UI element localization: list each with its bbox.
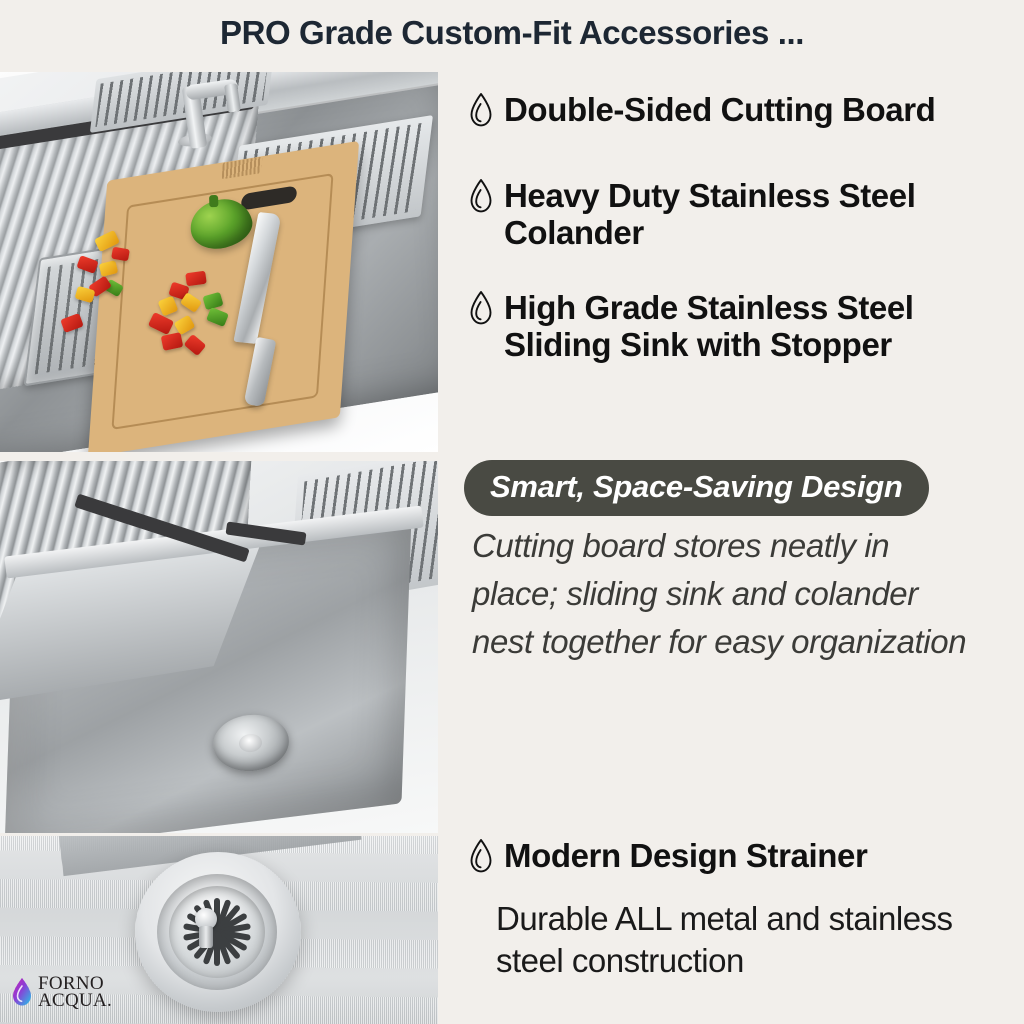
water-drop-icon	[468, 92, 494, 133]
feature-label: Modern Design Strainer	[504, 838, 867, 875]
workstation-sink-with-cutting-board-photo	[0, 72, 438, 452]
water-drop-icon	[468, 838, 494, 879]
water-drop-gradient-icon	[10, 977, 34, 1007]
strainer-description: Durable ALL metal and stainless steel co…	[496, 898, 1016, 982]
feature-label: Double-Sided Cutting Board	[504, 92, 935, 129]
status-badge: Smart, Space-Saving Design	[464, 460, 929, 516]
water-drop-icon	[468, 290, 494, 331]
infographic-page: PRO Grade Custom-Fit Accessories ...	[0, 0, 1024, 1024]
feature-label: Heavy Duty Stainless Steel Colander	[504, 178, 998, 252]
feature-label: High Grade Stainless Steel Sliding Sink …	[504, 290, 998, 364]
feature-item-sliding-sink: High Grade Stainless Steel Sliding Sink …	[468, 290, 998, 364]
feature-text-column: Double-Sided Cutting Board Heavy Duty St…	[462, 0, 1024, 1024]
feature-item-colander: Heavy Duty Stainless Steel Colander	[468, 178, 998, 252]
feature-item-strainer: Modern Design Strainer	[468, 838, 1008, 879]
brand-logo: FORNO ACQUA.	[10, 975, 112, 1010]
brand-line-2: ACQUA.	[38, 992, 112, 1009]
highlight-description: Cutting board stores neatly in place; sl…	[472, 522, 972, 666]
product-image-column	[0, 72, 440, 1024]
sink-basin-with-drain-photo	[0, 461, 438, 833]
water-drop-icon	[468, 178, 494, 219]
feature-item-cutting-board: Double-Sided Cutting Board	[468, 92, 1018, 133]
brand-name: FORNO ACQUA.	[38, 975, 112, 1010]
